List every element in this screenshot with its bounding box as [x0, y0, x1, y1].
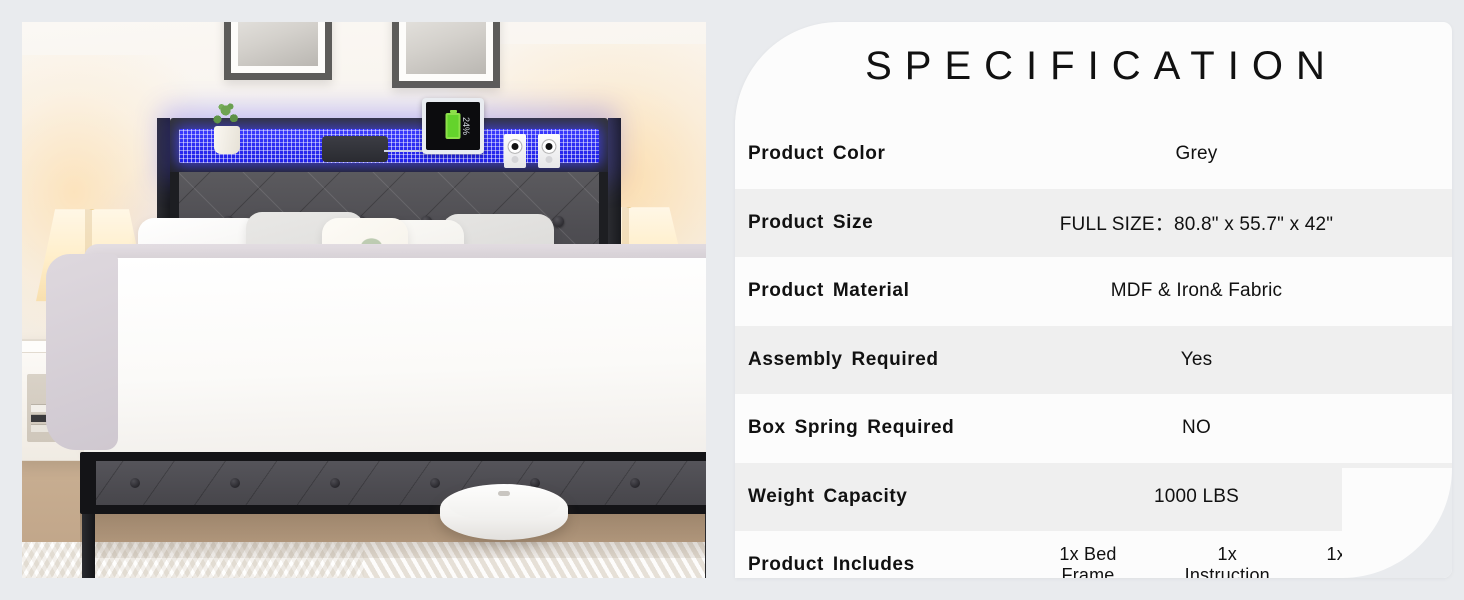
- battery-icon: [446, 113, 461, 139]
- table-row: Product Material MDF & Iron& Fabric: [735, 257, 1452, 326]
- spec-label: Weight Capacity: [735, 486, 1025, 508]
- plant-pot: [214, 126, 240, 154]
- spec-value: MDF & Iron& Fabric: [1025, 280, 1452, 302]
- vacuum-body: [440, 484, 568, 540]
- table-row: Product Size FULL SIZE：80.8" x 55.7" x 4…: [735, 189, 1452, 258]
- duvet-drape: [46, 254, 118, 450]
- table-row: Product Color Grey: [735, 120, 1452, 189]
- potted-plant-icon: [210, 102, 244, 154]
- spec-value: 1000 LBS: [1025, 486, 1452, 508]
- robot-vacuum: [440, 484, 568, 540]
- framed-wall-art-right-icon: [392, 22, 500, 88]
- tufted-footboard: [80, 452, 706, 514]
- bedroom-scene: 24%: [22, 22, 706, 578]
- spec-value: Grey: [1025, 143, 1452, 165]
- vacuum-sensor-icon: [498, 491, 510, 496]
- spec-value: NO: [1025, 417, 1452, 439]
- bed-leg: [705, 508, 706, 578]
- include-item: 1x Accessory bag: [1310, 544, 1452, 578]
- spec-value-includes: 1x Bed Frame 1x Instruction 1x Accessory…: [1025, 544, 1452, 578]
- tablet-device: 24%: [422, 98, 484, 154]
- table-row: Assembly Required Yes: [735, 326, 1452, 395]
- specification-table: Product Color Grey Product Size FULL SIZ…: [735, 120, 1452, 578]
- charging-speaker-icon: [504, 134, 526, 168]
- spec-label: Box Spring Required: [735, 417, 1025, 439]
- include-item: 1x Bed Frame: [1031, 544, 1145, 578]
- table-row: Product Includes 1x Bed Frame 1x Instruc…: [735, 531, 1452, 578]
- specification-panel: SPECIFICATION Product Color Grey Product…: [735, 22, 1452, 578]
- spec-label: Product Includes: [735, 554, 1025, 576]
- spec-label: Product Material: [735, 280, 1025, 302]
- footboard-fabric: [96, 461, 706, 505]
- spec-label: Product Color: [735, 143, 1025, 165]
- include-item: 1x Instruction: [1173, 544, 1282, 578]
- table-row: Box Spring Required NO: [735, 394, 1452, 463]
- tablet-screen: 24%: [426, 102, 480, 150]
- white-mattress: [84, 258, 706, 458]
- spec-label: Product Size: [735, 212, 1025, 234]
- bed-leg: [82, 508, 95, 578]
- spec-value: FULL SIZE：80.8" x 55.7" x 42": [1025, 209, 1452, 236]
- table-row: Weight Capacity 1000 LBS: [735, 463, 1452, 532]
- page-title: SPECIFICATION: [735, 22, 1452, 89]
- product-photo: 24%: [22, 22, 706, 578]
- battery-percent-label: 24%: [461, 117, 471, 135]
- framed-wall-art-left-icon: [224, 22, 332, 80]
- spec-value: Yes: [1025, 349, 1452, 371]
- spec-label: Assembly Required: [735, 349, 1025, 371]
- charging-speaker-icon: [538, 134, 560, 168]
- charger-block: [322, 136, 388, 162]
